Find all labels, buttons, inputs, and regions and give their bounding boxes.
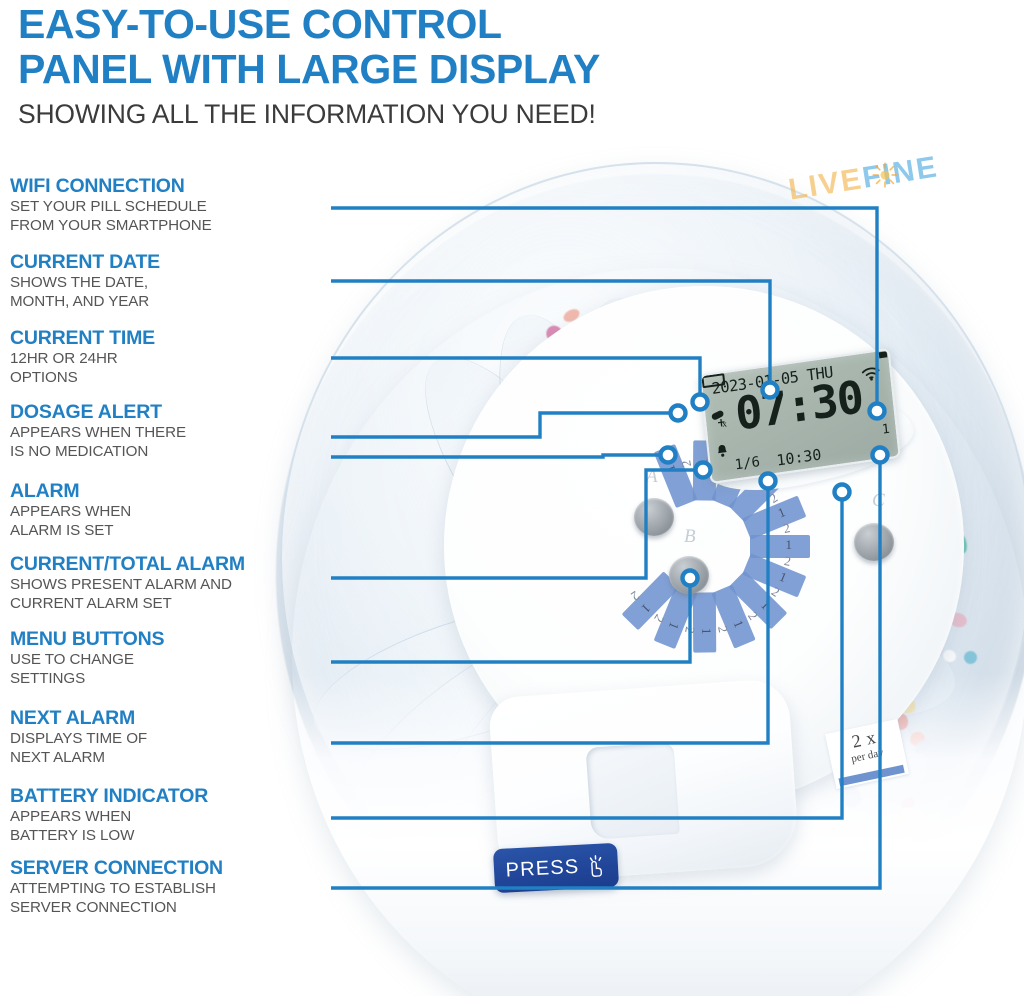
connector-current-date [331,281,770,390]
callout-desc-menu-buttons-0: USE TO CHANGE [10,651,20,669]
connector-alarm [331,455,668,457]
callout-desc-current-date-1: MONTH, AND YEAR [10,293,20,311]
callout-menu-buttons: MENU BUTTONSUSE TO CHANGESETTINGS [10,629,20,689]
connector-dosage-alert [331,413,678,437]
callout-title-wifi-connection: WIFI CONNECTION [10,176,20,197]
callout-desc-next-alarm-0: DISPLAYS TIME OF [10,730,20,748]
connector-next-alarm [331,481,768,743]
callout-desc-wifi-connection-0: SET YOUR PILL SCHEDULE [10,198,20,216]
callout-wifi-connection: WIFI CONNECTIONSET YOUR PILL SCHEDULEFRO… [10,176,20,236]
callout-desc-current-time-1: OPTIONS [10,369,20,387]
callout-battery-indicator: BATTERY INDICATORAPPEARS WHENBATTERY IS … [10,786,20,846]
callout-title-current-total-alarm: CURRENT/TOTAL ALARM [10,554,20,575]
callout-desc-menu-buttons-1: SETTINGS [10,670,20,688]
callout-server-connection: SERVER CONNECTIONATTEMPTING TO ESTABLISH… [10,858,20,918]
endpoint-dosage-alert [671,406,686,421]
callout-desc-alarm-0: APPEARS WHEN [10,503,20,521]
endpoint-battery-indicator [835,485,850,500]
connector-server-connection [331,455,880,888]
callout-title-dosage-alert: DOSAGE ALERT [10,402,20,423]
callout-current-date: CURRENT DATESHOWS THE DATE,MONTH, AND YE… [10,252,20,312]
endpoint-alarm [661,448,676,463]
connector-battery-indicator [331,492,842,818]
callout-title-current-date: CURRENT DATE [10,252,20,273]
callout-desc-server-connection-1: SERVER CONNECTION [10,899,20,917]
callout-desc-battery-indicator-1: BATTERY IS LOW [10,827,20,845]
connector-wifi-connection [331,208,877,411]
callout-desc-dosage-alert-0: APPEARS WHEN THERE [10,424,20,442]
endpoint-server-connection [873,448,888,463]
callout-dosage-alert: DOSAGE ALERTAPPEARS WHEN THEREIS NO MEDI… [10,402,20,462]
callout-desc-battery-indicator-0: APPEARS WHEN [10,808,20,826]
callout-current-time: CURRENT TIME12HR OR 24HROPTIONS [10,328,20,388]
callout-title-alarm: ALARM [10,481,20,502]
callout-connector-lines [0,0,1024,996]
callout-desc-current-date-0: SHOWS THE DATE, [10,274,20,292]
endpoint-wifi-connection [870,404,885,419]
callout-desc-current-total-alarm-0: SHOWS PRESENT ALARM AND [10,576,20,594]
callout-desc-dosage-alert-1: IS NO MEDICATION [10,443,20,461]
callout-next-alarm: NEXT ALARMDISPLAYS TIME OFNEXT ALARM [10,708,20,768]
callout-desc-current-time-0: 12HR OR 24HR [10,350,20,368]
endpoint-current-time [693,395,708,410]
endpoint-next-alarm [761,474,776,489]
callout-desc-wifi-connection-1: FROM YOUR SMARTPHONE [10,217,20,235]
callout-title-next-alarm: NEXT ALARM [10,708,20,729]
callout-title-battery-indicator: BATTERY INDICATOR [10,786,20,807]
callout-current-total-alarm: CURRENT/TOTAL ALARMSHOWS PRESENT ALARM A… [10,554,20,614]
connector-current-time [331,358,700,402]
callout-title-server-connection: SERVER CONNECTION [10,858,20,879]
connector-current-total-alarm [331,470,703,578]
callout-desc-current-total-alarm-1: CURRENT ALARM SET [10,595,20,613]
endpoint-current-total-alarm [696,463,711,478]
connector-menu-buttons [331,578,690,662]
callout-title-menu-buttons: MENU BUTTONS [10,629,20,650]
endpoint-menu-buttons [683,571,698,586]
callout-title-current-time: CURRENT TIME [10,328,20,349]
callout-desc-server-connection-0: ATTEMPTING TO ESTABLISH [10,880,20,898]
callout-alarm: ALARMAPPEARS WHENALARM IS SET [10,481,20,541]
callout-desc-next-alarm-1: NEXT ALARM [10,749,20,767]
callout-desc-alarm-1: ALARM IS SET [10,522,20,540]
endpoint-current-date [763,383,778,398]
